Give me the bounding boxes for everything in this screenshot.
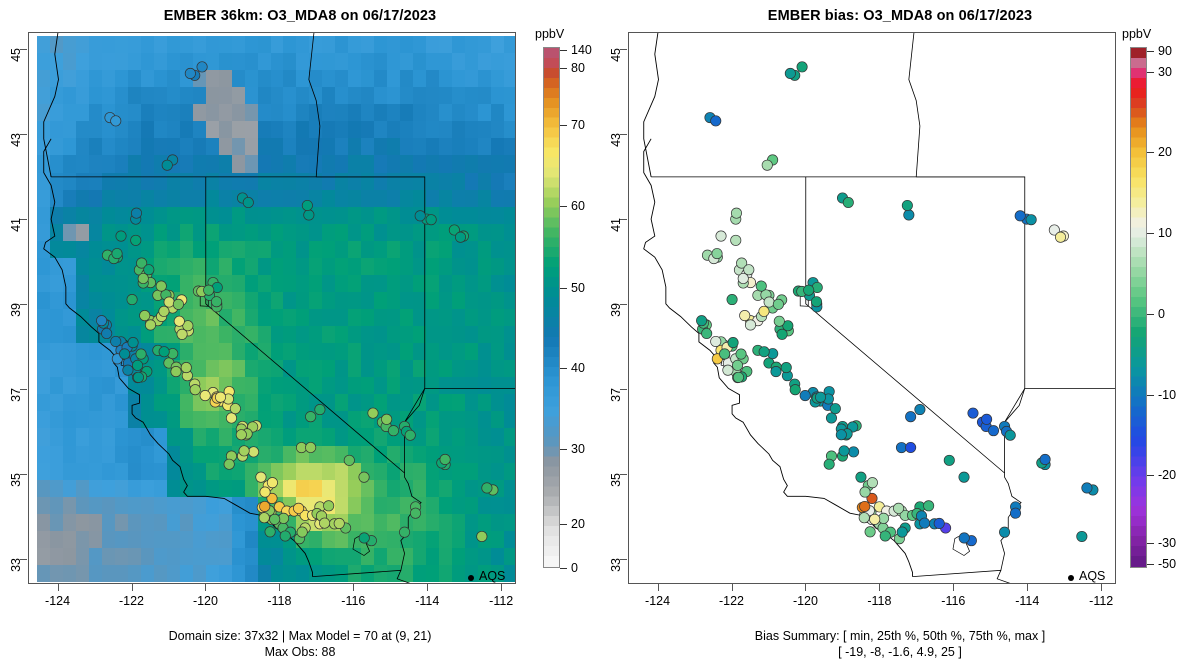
- aqs-station-marker: [102, 328, 112, 338]
- y-axis-tick-label: 45: [9, 48, 23, 88]
- aqs-station-marker: [811, 297, 821, 307]
- aqs-station-marker: [181, 362, 191, 372]
- aqs-station-marker: [904, 210, 914, 220]
- aqs-station-marker: [171, 366, 181, 376]
- y-axis-tick-label: 41: [9, 218, 23, 258]
- y-axis-tick-label: 35: [609, 473, 623, 513]
- aqs-station-marker: [381, 414, 391, 424]
- aqs-station-marker: [896, 442, 906, 452]
- aqs-station-marker: [696, 315, 706, 325]
- aqs-station-marker: [256, 472, 266, 482]
- aqs-station-marker: [145, 320, 155, 330]
- aqs-station-marker: [815, 392, 825, 402]
- aqs-station-marker: [790, 385, 800, 395]
- aqs-station-marker: [777, 329, 787, 339]
- y-axis-tick-label: 41: [609, 218, 623, 258]
- aqs-station-marker: [824, 459, 834, 469]
- y-axis-tick-label: 33: [609, 558, 623, 598]
- colorbar-tick: [1147, 475, 1154, 476]
- aqs-station-marker: [781, 362, 791, 372]
- aqs-station-marker: [230, 403, 240, 413]
- aqs-station-marker: [800, 390, 810, 400]
- colorbar-tick: [560, 68, 567, 69]
- aqs-station-marker: [859, 513, 869, 523]
- colorbar-tick-label: -30: [1158, 536, 1176, 550]
- state-boundary-ca-nv-path: [651, 177, 1021, 570]
- aqs-station-marker: [897, 527, 907, 537]
- panel-bias: EMBER bias: O3_MDA8 on 06/17/2023 AQS -1…: [600, 0, 1200, 672]
- aqs-station-marker: [405, 430, 415, 440]
- aqs-station-marker: [112, 248, 122, 258]
- aqs-station-marker: [368, 408, 378, 418]
- x-axis-tick: [279, 584, 280, 591]
- aqs-station-marker: [305, 412, 315, 422]
- aqs-station-marker: [177, 329, 187, 339]
- colorbar-tick-label: 60: [571, 199, 585, 213]
- aqs-station-marker: [159, 306, 169, 316]
- aqs-station-marker: [410, 508, 420, 518]
- aqs-station-marker: [934, 518, 944, 528]
- y-axis-tick-label: 39: [9, 303, 23, 343]
- aqs-station-marker: [759, 306, 769, 316]
- colorbar-tick-label: 40: [571, 361, 585, 375]
- x-axis-tick: [805, 584, 806, 591]
- aqs-station-marker: [1040, 454, 1050, 464]
- y-axis-tick-label: 37: [609, 388, 623, 428]
- x-axis-tick-label: -122: [102, 594, 162, 608]
- aqs-station-marker: [736, 349, 746, 359]
- aqs-station-marker: [1015, 211, 1025, 221]
- colorbar-tick: [560, 568, 567, 569]
- colorbar-tick-label: 10: [1158, 226, 1172, 240]
- aqs-station-marker: [988, 425, 998, 435]
- x-axis-tick-label: -112: [1071, 594, 1131, 608]
- aqs-station-marker: [1005, 430, 1015, 440]
- colorbar-tick: [560, 50, 567, 51]
- colorbar-tick: [560, 288, 567, 289]
- y-axis-tick-label: 35: [9, 473, 23, 513]
- colorbar-tick: [1147, 233, 1154, 234]
- x-axis-tick-label: -112: [471, 594, 531, 608]
- aqs-station-marker: [334, 518, 344, 528]
- aqs-station-marker: [248, 447, 258, 457]
- aqs-station-marker: [968, 408, 978, 418]
- map-overlay-bias: [629, 33, 1115, 583]
- x-axis-tick: [879, 584, 880, 591]
- aqs-station-marker: [759, 347, 769, 357]
- aqs-station-marker: [803, 285, 813, 295]
- caption-model-line2: Max Obs: 88: [0, 645, 600, 660]
- aqs-station-marker: [111, 116, 121, 126]
- aqs-station-marker: [773, 299, 783, 309]
- aqs-station-marker: [302, 200, 312, 210]
- aqs-station-marker: [132, 360, 142, 370]
- aqs-station-marker: [902, 200, 912, 210]
- x-axis-tick-label: -118: [249, 594, 309, 608]
- aqs-station-marker: [388, 425, 398, 435]
- colorbar-tick-label: 140: [571, 43, 592, 57]
- aqs-station-marker: [1077, 531, 1087, 541]
- coastline-oregon-path: [644, 32, 659, 177]
- aqs-station-marker: [762, 160, 772, 170]
- aqs-station-marker: [826, 413, 836, 423]
- x-axis-tick-label: -118: [849, 594, 909, 608]
- aqs-station-marker: [843, 197, 853, 207]
- figure-root: EMBER 36km: O3_MDA8 on 06/17/2023 AQS -1…: [0, 0, 1200, 672]
- aqs-station-marker: [1082, 483, 1092, 493]
- aqs-station-marker: [415, 211, 425, 221]
- colorbar-tick: [560, 125, 567, 126]
- colorbar-tick: [1147, 395, 1154, 396]
- aqs-station-marker: [197, 62, 207, 72]
- x-axis-tick: [353, 584, 354, 591]
- y-axis-tick-label: 33: [9, 558, 23, 598]
- colorbar-tick-label: -50: [1158, 557, 1176, 571]
- aqs-legend-label: AQS: [1079, 569, 1105, 583]
- aqs-station-marker: [174, 316, 184, 326]
- aqs-station-marker: [848, 447, 858, 457]
- colorbar-tick: [560, 206, 567, 207]
- aqs-station-marker: [304, 210, 314, 220]
- aqs-station-marker: [727, 294, 737, 304]
- aqs-station-marker: [981, 414, 991, 424]
- aqs-station-marker: [756, 281, 766, 291]
- x-axis-tick-label: -116: [323, 594, 383, 608]
- panel-model: EMBER 36km: O3_MDA8 on 06/17/2023 AQS -1…: [0, 0, 600, 672]
- y-axis-tick-label: 43: [609, 133, 623, 173]
- aqs-station-marker: [733, 372, 743, 382]
- colorbar-tick: [1147, 314, 1154, 315]
- aqs-station-marker: [867, 477, 877, 487]
- aqs-station-marker: [944, 455, 954, 465]
- aqs-station-marker: [297, 527, 307, 537]
- aqs-station-marker: [359, 472, 369, 482]
- x-axis-tick-label: -124: [628, 594, 688, 608]
- aqs-station-marker: [127, 294, 137, 304]
- aqs-legend-dot: [1068, 575, 1074, 581]
- colorbar-tick-label: 90: [1158, 44, 1172, 58]
- colorbar-tick: [560, 524, 567, 525]
- x-axis-tick: [501, 584, 502, 591]
- state-boundary-or-id-path: [909, 32, 920, 177]
- aqs-station-marker: [203, 285, 213, 295]
- aqs-station-marker: [224, 459, 234, 469]
- aqs-station-marker: [111, 336, 121, 346]
- aqs-station-marker: [243, 197, 253, 207]
- aqs-station-marker: [136, 349, 146, 359]
- x-axis-tick-label: -120: [175, 594, 235, 608]
- aqs-station-marker: [131, 208, 141, 218]
- colorbar-tick-label: 80: [571, 61, 585, 75]
- aqs-station-marker: [999, 527, 1009, 537]
- aqs-station-marker: [305, 442, 315, 452]
- colorbar-unit-model: ppbV: [535, 27, 564, 41]
- aqs-station-marker: [211, 297, 221, 307]
- caption-bias-line1: Bias Summary: [ min, 25th %, 50th %, 75t…: [600, 629, 1200, 644]
- colorbar-tick: [1147, 152, 1154, 153]
- aqs-station-marker: [771, 366, 781, 376]
- colorbar-tick-label: 50: [571, 281, 585, 295]
- aqs-station-marker: [226, 413, 236, 423]
- aqs-station-marker: [426, 215, 436, 225]
- x-axis-tick-label: -114: [397, 594, 457, 608]
- colorbar-tick-label: -20: [1158, 468, 1176, 482]
- colorbar-tick: [1147, 564, 1154, 565]
- aqs-station-marker: [315, 404, 325, 414]
- aqs-station-marker: [399, 527, 409, 537]
- colorbar-tick-label: -10: [1158, 388, 1176, 402]
- aqs-station-marker: [870, 514, 880, 524]
- aqs-station-marker: [797, 62, 807, 72]
- x-axis-tick-label: -122: [702, 594, 762, 608]
- colorbar-tick: [560, 368, 567, 369]
- aqs-station-marker: [173, 299, 183, 309]
- aqs-station-marker: [280, 531, 290, 541]
- x-axis-tick-label: -114: [997, 594, 1057, 608]
- aqs-station-marker: [260, 487, 270, 497]
- aqs-station-marker: [711, 336, 721, 346]
- colorbar-tick: [1147, 543, 1154, 544]
- colorbar-tick: [560, 449, 567, 450]
- x-axis-tick-label: -124: [28, 594, 88, 608]
- aqs-station-marker: [740, 310, 750, 320]
- aqs-station-marker: [270, 514, 280, 524]
- aqs-station-marker: [128, 337, 138, 347]
- colorbar-tick-label: 20: [571, 517, 585, 531]
- aqs-station-marker: [293, 503, 303, 513]
- plot-frame-model: [28, 32, 516, 584]
- aqs-station-marker: [731, 235, 741, 245]
- aqs-station-marker: [133, 372, 143, 382]
- x-axis-tick: [953, 584, 954, 591]
- aqs-station-marker: [440, 454, 450, 464]
- aqs-station-marker: [860, 501, 870, 511]
- aqs-station-marker: [880, 531, 890, 541]
- x-axis-tick: [1027, 584, 1028, 591]
- aqs-station-marker: [959, 533, 969, 543]
- aqs-station-marker: [732, 360, 742, 370]
- aqs-station-marker: [1055, 232, 1065, 242]
- aqs-station-marker: [215, 392, 225, 402]
- aqs-station-marker: [239, 446, 249, 456]
- colorbar-tick: [1147, 51, 1154, 52]
- aqs-station-marker: [267, 477, 277, 487]
- y-axis-tick-label: 45: [609, 48, 623, 88]
- aqs-station-marker: [156, 281, 166, 291]
- aqs-station-marker: [719, 349, 729, 359]
- colorbar-tick-label: 30: [571, 442, 585, 456]
- colorbar-tick-label: 30: [1158, 65, 1172, 79]
- y-axis-tick-label: 39: [609, 303, 623, 343]
- aqs-station-marker: [116, 231, 126, 241]
- aqs-station-marker: [359, 533, 369, 543]
- aqs-legend-label: AQS: [479, 569, 505, 583]
- aqs-station-marker: [785, 68, 795, 78]
- aqs-station-marker: [830, 403, 840, 413]
- aqs-station-marker: [131, 235, 141, 245]
- aqs-station-marker: [477, 531, 487, 541]
- aqs-station-marker: [260, 501, 270, 511]
- x-axis-tick: [132, 584, 133, 591]
- aqs-station-marker: [123, 365, 133, 375]
- aqs-station-marker: [265, 527, 275, 537]
- aqs-station-marker: [860, 487, 870, 497]
- aqs-station-marker: [731, 208, 741, 218]
- aqs-station-marker: [319, 518, 329, 528]
- aqs-station-marker: [774, 316, 784, 326]
- colorbar-tick: [1147, 72, 1154, 73]
- state-boundary-ca-nv-path: [51, 177, 421, 570]
- x-axis-tick-label: -120: [775, 594, 835, 608]
- aqs-station-marker: [702, 328, 712, 338]
- colorbar-unit-bias: ppbV: [1122, 27, 1151, 41]
- aqs-station-marker: [738, 273, 748, 283]
- aqs-station-marker: [159, 347, 169, 357]
- x-axis-tick-label: -116: [923, 594, 983, 608]
- aqs-station-marker: [959, 472, 969, 482]
- colorbar-tick-label: 70: [571, 118, 585, 132]
- aqs-station-marker: [455, 232, 465, 242]
- aqs-station-marker: [745, 320, 755, 330]
- x-axis-tick: [1101, 584, 1102, 591]
- aqs-station-marker: [190, 385, 200, 395]
- aqs-station-marker: [905, 412, 915, 422]
- aqs-station-marker: [164, 297, 174, 307]
- aqs-station-marker: [716, 231, 726, 241]
- aqs-station-marker: [344, 455, 354, 465]
- colorbar-tick-label: 0: [571, 561, 578, 575]
- aqs-station-marker: [915, 404, 925, 414]
- caption-model-line1: Domain size: 37x32 | Max Model = 70 at (…: [0, 629, 600, 644]
- aqs-station-marker: [96, 315, 106, 325]
- aqs-station-marker: [259, 513, 269, 523]
- aqs-station-marker: [185, 68, 195, 78]
- plot-frame-bias: [628, 32, 1116, 584]
- aqs-legend-dot: [468, 575, 474, 581]
- colorbar-tick-label: 20: [1158, 145, 1172, 159]
- aqs-station-marker: [923, 501, 933, 511]
- aqs-station-marker: [723, 365, 733, 375]
- panel-title-bias: EMBER bias: O3_MDA8 on 06/17/2023: [600, 8, 1200, 24]
- aqs-station-marker: [236, 430, 246, 440]
- x-axis-tick: [205, 584, 206, 591]
- y-axis-tick-label: 43: [9, 133, 23, 173]
- aqs-station-marker: [865, 527, 875, 537]
- aqs-station-marker: [482, 483, 492, 493]
- aqs-station-marker: [1026, 215, 1036, 225]
- colorbar-tick-label: 0: [1158, 307, 1165, 321]
- aqs-station-marker: [839, 446, 849, 456]
- panel-title-model: EMBER 36km: O3_MDA8 on 06/17/2023: [0, 8, 600, 24]
- aqs-station-marker: [893, 503, 903, 513]
- y-axis-tick-label: 37: [9, 388, 23, 428]
- aqs-station-marker: [712, 248, 722, 258]
- x-axis-tick: [732, 584, 733, 591]
- caption-bias-line2: [ -19, -8, -1.6, 4.9, 25 ]: [600, 645, 1200, 660]
- aqs-station-marker: [119, 349, 129, 359]
- aqs-station-marker: [764, 297, 774, 307]
- aqs-station-marker: [836, 430, 846, 440]
- aqs-station-marker: [323, 501, 333, 511]
- aqs-station-marker: [711, 116, 721, 126]
- aqs-station-marker: [1010, 508, 1020, 518]
- aqs-station-marker: [728, 337, 738, 347]
- x-axis-tick: [427, 584, 428, 591]
- aqs-station-marker: [296, 442, 306, 452]
- aqs-station-marker: [200, 390, 210, 400]
- x-axis-tick: [658, 584, 659, 591]
- map-overlay-model: [29, 33, 515, 583]
- aqs-station-marker: [919, 518, 929, 528]
- aqs-station-marker: [905, 442, 915, 452]
- aqs-station-marker: [138, 273, 148, 283]
- aqs-station-marker: [140, 310, 150, 320]
- coastline-oregon-path: [44, 32, 59, 177]
- aqs-station-marker: [162, 160, 172, 170]
- aqs-station-marker: [856, 472, 866, 482]
- x-axis-tick: [58, 584, 59, 591]
- state-boundary-or-id-path: [309, 32, 320, 177]
